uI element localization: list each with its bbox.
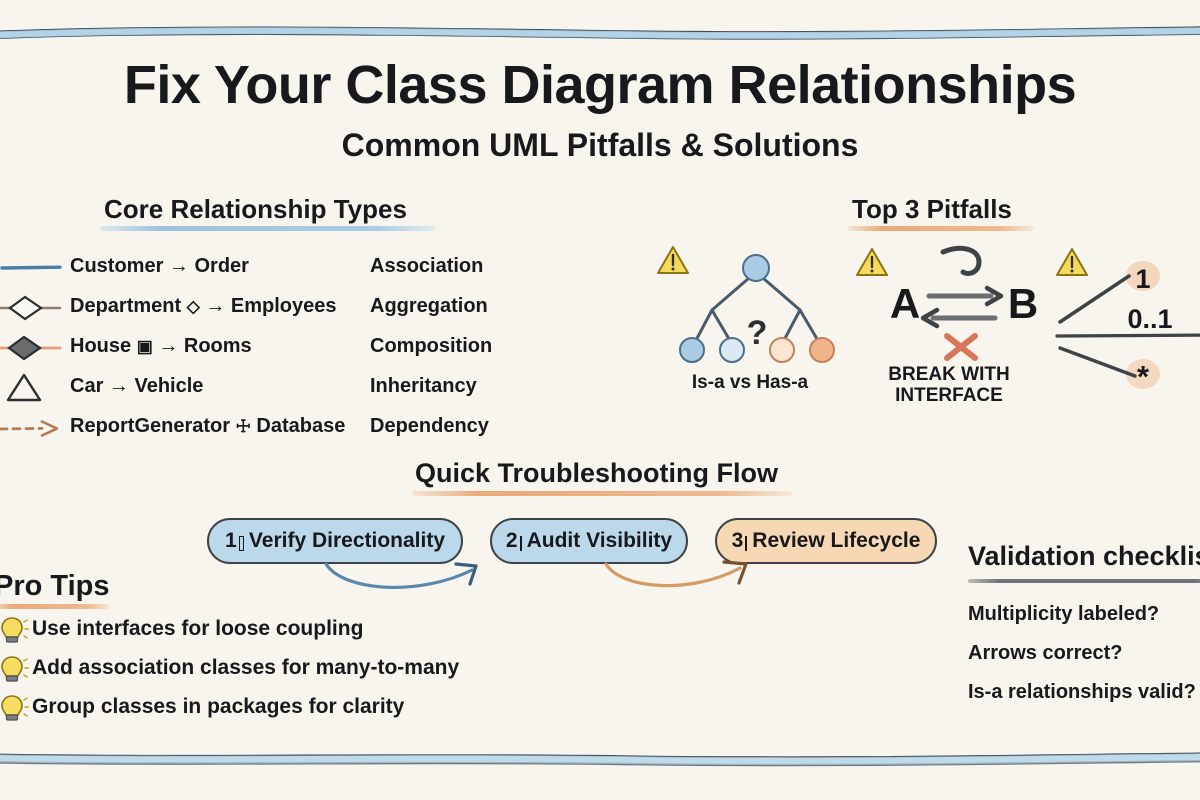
legend-relation: Customer → Order [70, 255, 249, 278]
inheritance-tree-diagram: ? [670, 248, 850, 368]
legend-target: Employees [231, 295, 337, 317]
flow-arrow-1-to-2 [320, 556, 520, 602]
section-underline-flow [412, 491, 792, 496]
page-title: Fix Your Class Diagram Relationships [0, 58, 1200, 112]
legend-kind: Aggregation [370, 295, 488, 318]
section-underline-tips [0, 604, 110, 609]
list-item: Use interfaces for loose coupling [0, 612, 520, 651]
section-heading-checklist: Validation checklist [968, 543, 1200, 570]
legend-source: Department [70, 295, 181, 317]
flow-step-number: 3 [732, 529, 744, 553]
legend-relation: Department ◇ → Employees [70, 295, 337, 318]
core-relationship-legend: Customer → Order Association Department … [0, 248, 520, 448]
section-heading-core: Core Relationship Types [104, 196, 407, 222]
hollow-triangle-icon [0, 368, 62, 408]
legend-row: ReportGenerator ☩ Database Dependency [0, 408, 520, 448]
missing-glyph-icon [520, 536, 522, 551]
section-heading-tips: Pro Tips [0, 572, 110, 601]
legend-target: Vehicle [134, 375, 203, 397]
arrow-icon: → [205, 295, 225, 317]
flow-arrow-2-to-3 [600, 556, 780, 602]
composition-square-icon: ▣ [137, 337, 153, 356]
dashed-arrow-icon [0, 408, 62, 448]
pitfall-cyclic-dependency: A B BREAK WITH INTERFACE [855, 244, 1045, 404]
section-underline-checklist [968, 579, 1200, 583]
flow-step-number: 1 [225, 529, 237, 553]
tip-label: Use interfaces for loose coupling [32, 617, 363, 641]
validation-checklist: Validation checklist Multiplicity labele… [968, 543, 1200, 705]
multiplicity-lines-diagram: 1 0..1 * [1055, 250, 1200, 400]
legend-kind: Inheritancy [370, 375, 477, 398]
legend-target: Order [194, 255, 248, 277]
pitfall-is-a-vs-has-a: ? Is-a vs Has-a [650, 244, 850, 404]
flow-step-number: 2 [506, 529, 518, 553]
flow-step-label: Audit Visibility [527, 529, 672, 553]
legend-relation: Car → Vehicle [70, 375, 203, 398]
legend-row: Customer → Order Association [0, 248, 520, 288]
legend-target: Rooms [184, 335, 252, 357]
section-underline-core [100, 226, 436, 231]
aggregation-diamond-icon: ◇ [187, 297, 200, 316]
dependency-mark-icon: ☩ [236, 417, 251, 436]
svg-text:?: ? [747, 314, 768, 352]
arrow-icon: → [109, 375, 129, 397]
cross-icon [947, 336, 975, 358]
tip-label: Group classes in packages for clarity [32, 695, 404, 719]
missing-glyph-icon [239, 536, 244, 551]
section-underline-pitfalls [848, 226, 1034, 231]
list-item: Add association classes for many-to-many [0, 651, 520, 690]
legend-source: House [70, 335, 131, 357]
legend-relation: House ▣ → Rooms [70, 335, 252, 358]
lightbulb-icon [0, 652, 29, 686]
legend-kind: Composition [370, 335, 492, 358]
section-heading-pitfalls: Top 3 Pitfalls [852, 196, 1012, 222]
pitfall-multiplicity: 1 0..1 * [1055, 244, 1200, 404]
hollow-diamond-icon [0, 288, 62, 328]
flow-step-label: Verify Directionality [249, 529, 445, 553]
top-border-band [0, 18, 1200, 44]
list-item: Group classes in packages for clarity [0, 690, 520, 729]
pro-tips-list: Use interfaces for loose coupling Add as… [0, 612, 520, 729]
legend-kind: Dependency [370, 415, 489, 438]
missing-glyph-icon [745, 536, 747, 551]
flow-step-label: Review Lifecycle [752, 529, 920, 553]
poster-canvas: Fix Your Class Diagram Relationships Com… [0, 0, 1200, 800]
legend-row: Department ◇ → Employees Aggregation [0, 288, 520, 328]
bottom-border-band [0, 745, 1200, 771]
node-a-label: A [890, 280, 920, 327]
node-b-label: B [1008, 280, 1038, 327]
lightbulb-icon [0, 691, 29, 725]
checklist-item[interactable]: Is-a relationships valid? [968, 682, 1200, 702]
filled-diamond-icon [0, 328, 62, 368]
cyclic-arrows-diagram: A B [883, 244, 1045, 368]
pitfall-caption: BREAK WITH INTERFACE [849, 364, 1049, 407]
legend-row: Car → Vehicle Inheritancy [0, 368, 520, 408]
pitfall-caption: Is-a vs Has-a [650, 372, 850, 393]
checklist-item[interactable]: Multiplicity labeled? [968, 604, 1200, 624]
legend-source: Car [70, 375, 103, 397]
multiplicity-label-one: 1 [1135, 264, 1150, 294]
multiplicity-label-zero-one: 0..1 [1127, 304, 1172, 334]
section-heading-flow: Quick Troubleshooting Flow [415, 460, 778, 487]
multiplicity-label-many: * [1137, 359, 1150, 394]
arrow-icon: → [169, 255, 189, 277]
legend-kind: Association [370, 255, 483, 278]
legend-row: House ▣ → Rooms Composition [0, 328, 520, 368]
legend-target: Database [256, 415, 345, 437]
legend-source: ReportGenerator [70, 415, 230, 437]
legend-relation: ReportGenerator ☩ Database [70, 415, 345, 438]
legend-source: Customer [70, 255, 163, 277]
lightbulb-icon [0, 613, 29, 647]
tip-label: Add association classes for many-to-many [32, 656, 459, 680]
arrow-icon: → [158, 335, 178, 357]
page-subtitle: Common UML Pitfalls & Solutions [0, 129, 1200, 161]
solid-line-icon [0, 248, 62, 288]
checklist-item[interactable]: Arrows correct? [968, 643, 1200, 663]
